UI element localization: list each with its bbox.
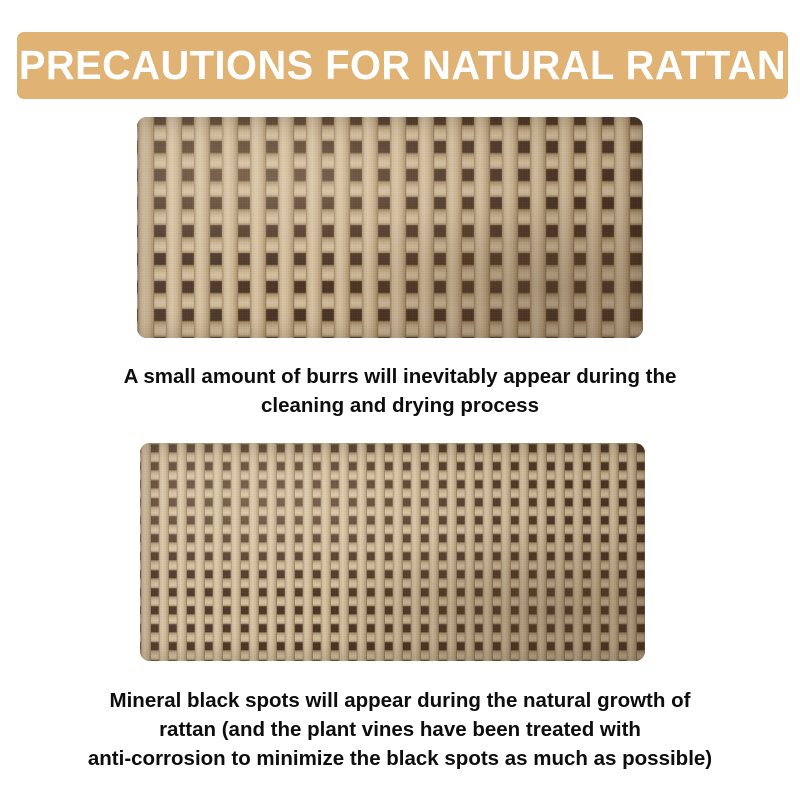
caption-line: rattan (and the plant vines have been tr… xyxy=(0,715,800,744)
caption-line: cleaning and drying process xyxy=(0,391,800,420)
weave-fiber-grain xyxy=(137,117,643,338)
caption-line: anti-corrosion to minimize the black spo… xyxy=(0,744,800,773)
caption-burrs: A small amount of burrs will inevitably … xyxy=(0,362,800,420)
page-title: PRECAUTIONS FOR NATURAL RATTAN xyxy=(19,45,786,86)
caption-line: Mineral black spots will appear during t… xyxy=(0,686,800,715)
caption-line: A small amount of burrs will inevitably … xyxy=(0,362,800,391)
weave-fiber-grain xyxy=(140,443,645,661)
rattan-weave-coarse-image xyxy=(137,117,643,338)
rattan-weave-fine-image xyxy=(140,443,645,661)
infographic-page: PRECAUTIONS FOR NATURAL RATTAN A small a… xyxy=(0,0,800,800)
caption-black-spots: Mineral black spots will appear during t… xyxy=(0,686,800,773)
header-banner: PRECAUTIONS FOR NATURAL RATTAN xyxy=(17,32,788,99)
